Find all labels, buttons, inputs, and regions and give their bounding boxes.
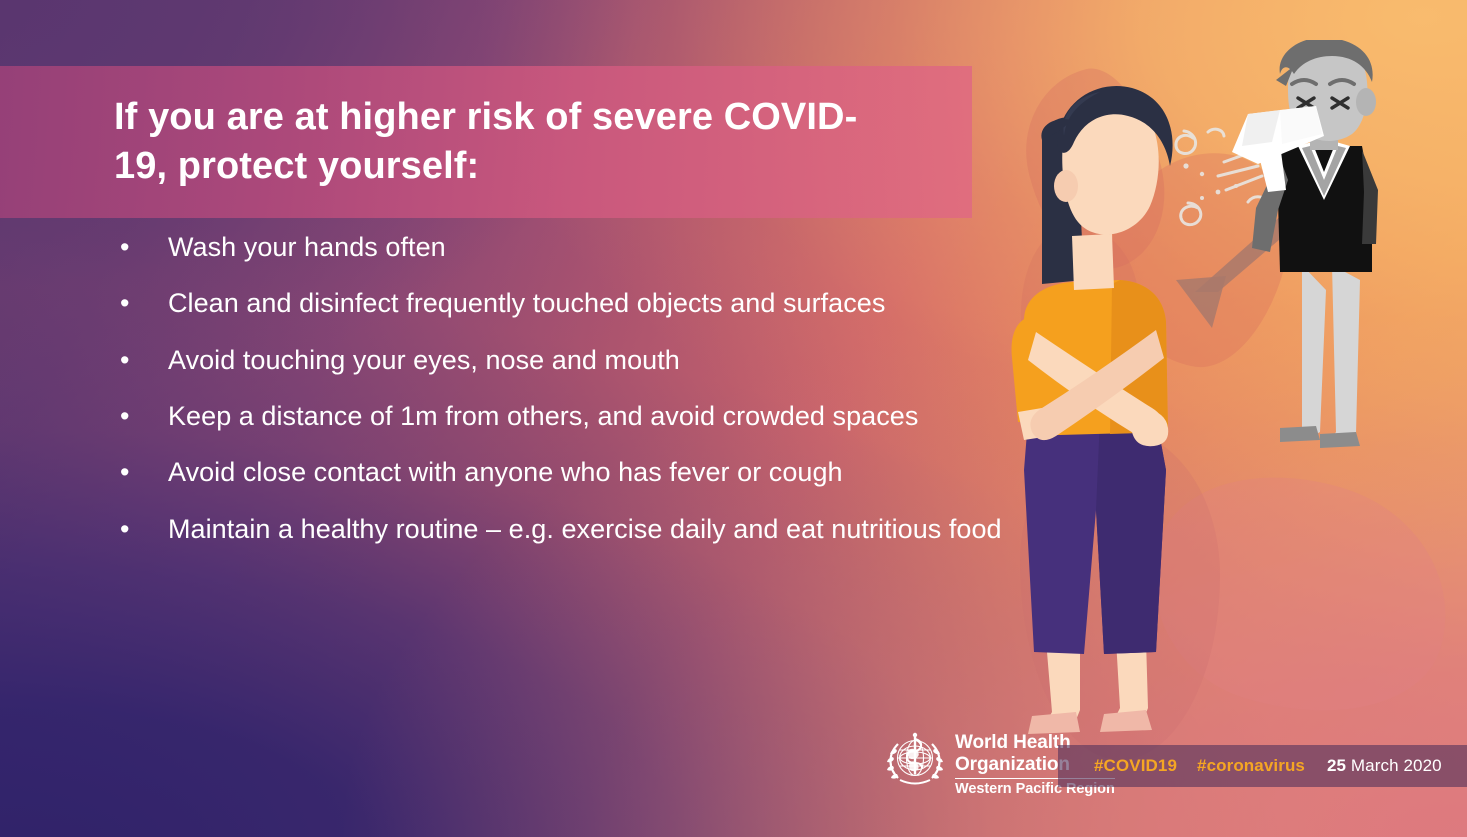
publication-date-day: 25 <box>1327 756 1346 775</box>
who-emblem-icon <box>884 730 946 792</box>
list-item: • Avoid touching your eyes, nose and mou… <box>112 341 1042 379</box>
hashtag-covid19[interactable]: #COVID19 <box>1094 756 1177 776</box>
list-item: • Clean and disinfect frequently touched… <box>112 284 1042 322</box>
bullet-point-icon: • <box>112 397 168 435</box>
publication-date-rest: March 2020 <box>1346 756 1442 775</box>
list-item: • Wash your hands often <box>112 228 1042 266</box>
who-covid-slide: If you are at higher risk of severe COVI… <box>0 0 1467 837</box>
list-item-label: Avoid touching your eyes, nose and mouth <box>168 341 680 379</box>
title-banner: If you are at higher risk of severe COVI… <box>0 66 972 218</box>
bullet-point-icon: • <box>112 284 168 322</box>
bullet-point-icon: • <box>112 453 168 491</box>
bullet-point-icon: • <box>112 341 168 379</box>
list-item-label: Clean and disinfect frequently touched o… <box>168 284 885 322</box>
list-item-label: Wash your hands often <box>168 228 446 266</box>
bullet-point-icon: • <box>112 510 168 548</box>
hashtag-coronavirus[interactable]: #coronavirus <box>1197 756 1305 776</box>
list-item-label: Keep a distance of 1m from others, and a… <box>168 397 918 435</box>
footer-tag-bar: #COVID19 #coronavirus 25 March 2020 <box>1058 745 1467 787</box>
list-item-label: Avoid close contact with anyone who has … <box>168 453 843 491</box>
publication-date: 25 March 2020 <box>1327 756 1442 776</box>
protection-tips-list: • Wash your hands often • Clean and disi… <box>112 228 1042 566</box>
list-item: • Maintain a healthy routine – e.g. exer… <box>112 510 1042 548</box>
list-item: • Keep a distance of 1m from others, and… <box>112 397 1042 435</box>
list-item-label: Maintain a healthy routine – e.g. exerci… <box>168 510 1002 548</box>
page-title: If you are at higher risk of severe COVI… <box>0 93 914 192</box>
list-item: • Avoid close contact with anyone who ha… <box>112 453 1042 491</box>
bullet-point-icon: • <box>112 228 168 266</box>
